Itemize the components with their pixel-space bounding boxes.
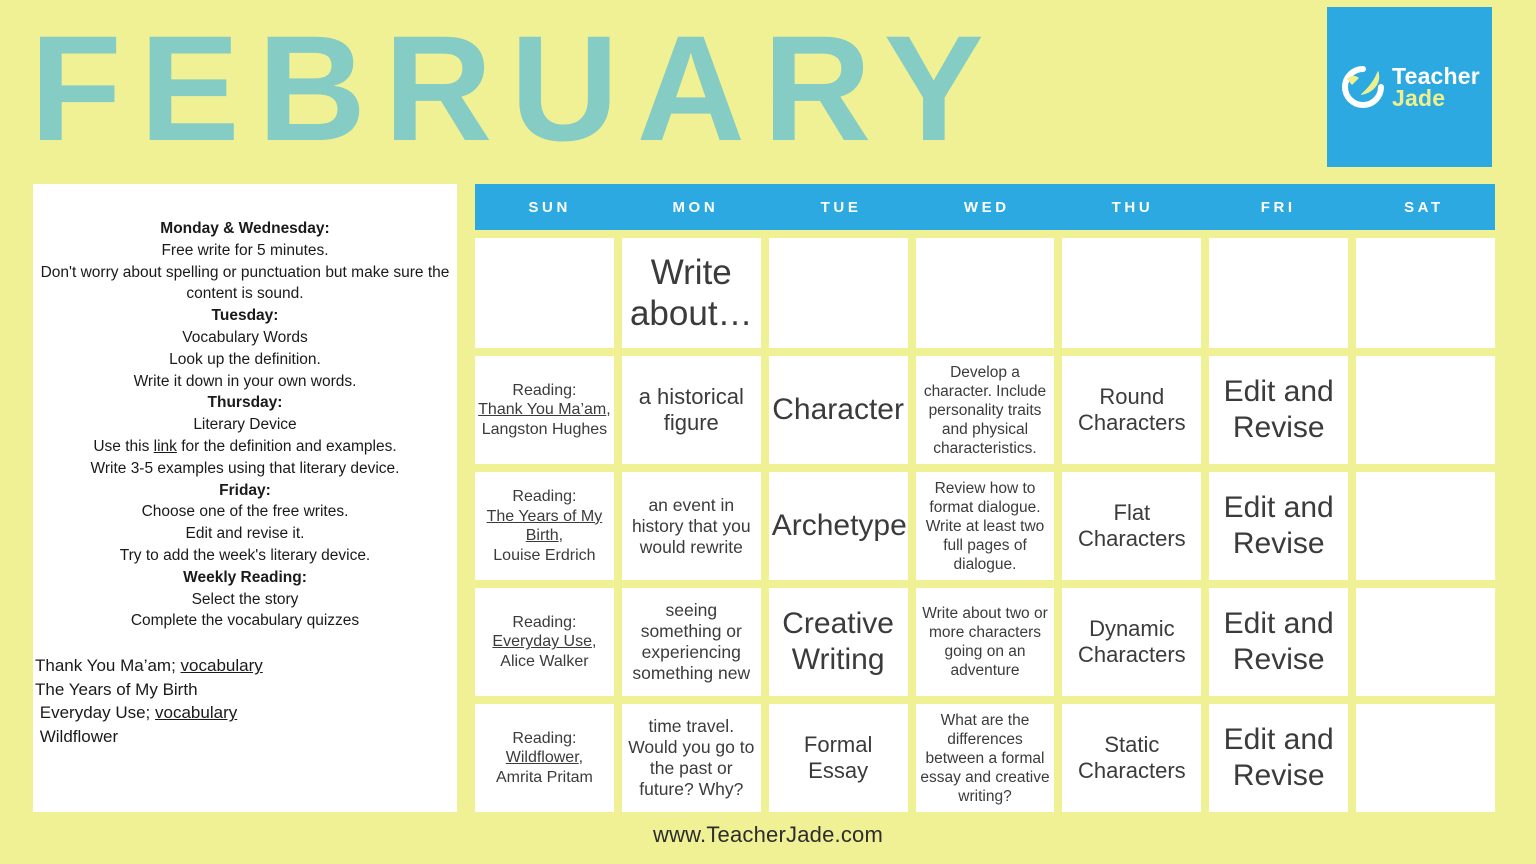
- reading-title-link[interactable]: Thank You Ma’am: [478, 401, 606, 418]
- footer-url[interactable]: www.TeacherJade.com: [0, 822, 1536, 848]
- calendar-cell[interactable]: What are the differences between a forma…: [916, 704, 1055, 812]
- day-header-tue: TUE: [766, 184, 912, 230]
- cell-text: Flat Characters: [1065, 500, 1198, 552]
- reading-label: Reading:: [512, 382, 576, 399]
- quill-circle-icon: [1339, 63, 1387, 111]
- cell-text: Reading: The Years of My Birth, Louise E…: [478, 487, 611, 565]
- reading-title-link[interactable]: The Years of My Birth: [487, 508, 603, 545]
- day-header-sun: SUN: [475, 184, 621, 230]
- calendar-header-row: SUN MON TUE WED THU FRI SAT: [475, 184, 1495, 230]
- calendar-cell[interactable]: Dynamic Characters: [1062, 588, 1201, 696]
- reading-title: The Years of My Birth: [35, 680, 198, 699]
- calendar-cell[interactable]: seeing something or experiencing somethi…: [622, 588, 761, 696]
- calendar-cell[interactable]: [475, 238, 614, 348]
- day-header-fri: FRI: [1204, 184, 1350, 230]
- calendar-cell[interactable]: Creative Writing: [769, 588, 908, 696]
- day-header-sat: SAT: [1349, 184, 1495, 230]
- cell-text: What are the differences between a forma…: [919, 711, 1052, 806]
- calendar-cell[interactable]: Edit and Revise: [1209, 588, 1348, 696]
- instructions-panel: Monday & Wednesday: Free write for 5 min…: [33, 184, 457, 812]
- reading-label: Reading:: [512, 614, 576, 631]
- instructions-line: Write 3-5 examples using that literary d…: [35, 458, 455, 480]
- vocabulary-link[interactable]: vocabulary: [181, 656, 263, 675]
- cell-text: Write about two or more characters going…: [919, 604, 1052, 680]
- instructions-line: Don't worry about spelling or punctuatio…: [35, 262, 455, 306]
- reading-author: Louise Erdrich: [493, 547, 595, 564]
- calendar-cell[interactable]: Review how to format dialogue. Write at …: [916, 472, 1055, 580]
- cell-text: Archetypes: [772, 508, 905, 544]
- instructions-heading-weekly-reading: Weekly Reading:: [183, 569, 307, 586]
- calendar-cell[interactable]: [1356, 356, 1495, 464]
- reading-author: Langston Hughes: [482, 421, 607, 438]
- calendar-cell[interactable]: an event in history that you would rewri…: [622, 472, 761, 580]
- list-item: Wildflower: [35, 725, 457, 749]
- instructions-line: Vocabulary Words: [35, 327, 455, 349]
- instructions-line: Write it down in your own words.: [35, 371, 455, 393]
- cell-text: Character: [772, 392, 905, 428]
- logo-text-jade: Jade: [1392, 87, 1480, 109]
- reading-title: Thank You Ma’am;: [35, 656, 176, 675]
- cell-text: Edit and Revise: [1212, 374, 1345, 446]
- calendar-grid: Write about… Reading: Thank You Ma’am, L…: [475, 238, 1495, 812]
- instructions-line: Literary Device: [35, 414, 455, 436]
- calendar-cell[interactable]: Write about two or more characters going…: [916, 588, 1055, 696]
- instructions-line: Edit and revise it.: [35, 523, 455, 545]
- instructions-line: Look up the definition.: [35, 349, 455, 371]
- reading-title: Wildflower: [40, 727, 118, 746]
- list-item: Thank You Ma’am; vocabulary: [35, 654, 457, 678]
- instructions-heading-friday: Friday:: [219, 482, 271, 499]
- cell-text: Edit and Revise: [1212, 606, 1345, 678]
- cell-text: Reading: Everyday Use, Alice Walker: [478, 613, 611, 672]
- calendar-cell[interactable]: [769, 238, 908, 348]
- calendar-cell[interactable]: Character: [769, 356, 908, 464]
- instructions-line: Choose one of the free writes.: [35, 501, 455, 523]
- page-title: FEBRUARY: [30, 8, 1002, 168]
- calendar-cell[interactable]: Formal Essay: [769, 704, 908, 812]
- cell-text: Static Characters: [1065, 732, 1198, 784]
- calendar-cell[interactable]: [1356, 704, 1495, 812]
- cell-text: a historical figure: [625, 384, 758, 436]
- calendar-cell[interactable]: Edit and Revise: [1209, 472, 1348, 580]
- instructions-line: Complete the vocabulary quizzes: [35, 610, 455, 632]
- calendar-cell[interactable]: [1062, 238, 1201, 348]
- calendar-cell[interactable]: Reading: The Years of My Birth, Louise E…: [475, 472, 614, 580]
- calendar-cell[interactable]: [1209, 238, 1348, 348]
- list-item: Everyday Use; vocabulary: [35, 701, 457, 725]
- instructions-line-with-link: Use this link for the definition and exa…: [35, 436, 455, 458]
- day-header-wed: WED: [912, 184, 1058, 230]
- instructions-heading-thursday: Thursday:: [208, 394, 283, 411]
- calendar-cell[interactable]: Write about…: [622, 238, 761, 348]
- instructions-line: Free write for 5 minutes.: [35, 240, 455, 262]
- calendar-cell[interactable]: time travel. Would you go to the past or…: [622, 704, 761, 812]
- instructions-heading-tuesday: Tuesday:: [212, 307, 279, 324]
- cell-text: Reading: Thank You Ma’am, Langston Hughe…: [478, 381, 611, 440]
- calendar-cell[interactable]: Develop a character. Include personality…: [916, 356, 1055, 464]
- cell-text: Edit and Revise: [1212, 722, 1345, 794]
- reading-label: Reading:: [512, 488, 576, 505]
- calendar-cell[interactable]: Archetypes: [769, 472, 908, 580]
- calendar-cell[interactable]: Reading: Everyday Use, Alice Walker: [475, 588, 614, 696]
- calendar-cell[interactable]: Edit and Revise: [1209, 704, 1348, 812]
- day-header-mon: MON: [621, 184, 767, 230]
- literary-device-link[interactable]: link: [154, 438, 177, 455]
- calendar-cell[interactable]: Edit and Revise: [1209, 356, 1348, 464]
- calendar-cell[interactable]: [916, 238, 1055, 348]
- calendar-cell[interactable]: [1356, 472, 1495, 580]
- reading-label: Reading:: [512, 730, 576, 747]
- list-item: The Years of My Birth: [35, 678, 457, 702]
- calendar-cell[interactable]: Round Characters: [1062, 356, 1201, 464]
- calendar-cell[interactable]: Reading: Thank You Ma’am, Langston Hughe…: [475, 356, 614, 464]
- instructions-heading-mon-wed: Monday & Wednesday:: [160, 220, 329, 237]
- reading-title-link[interactable]: Wildflower: [506, 749, 579, 766]
- reading-list: Thank You Ma’am; vocabulary The Years of…: [33, 654, 457, 748]
- cell-text: time travel. Would you go to the past or…: [625, 716, 758, 800]
- calendar-cell[interactable]: Reading: Wildflower, Amrita Pritam: [475, 704, 614, 812]
- calendar-cell[interactable]: a historical figure: [622, 356, 761, 464]
- logo-text-teacher: Teacher: [1392, 65, 1480, 87]
- reading-author: Amrita Pritam: [496, 769, 593, 786]
- cell-text: Write about…: [625, 252, 758, 334]
- reading-author: Alice Walker: [500, 653, 588, 670]
- calendar: SUN MON TUE WED THU FRI SAT Write about……: [475, 184, 1495, 812]
- vocabulary-link[interactable]: vocabulary: [155, 703, 237, 722]
- reading-title: Everyday Use;: [40, 703, 151, 722]
- cell-text: Formal Essay: [772, 732, 905, 784]
- brand-logo: Teacher Jade: [1327, 7, 1492, 167]
- calendar-cell[interactable]: Flat Characters: [1062, 472, 1201, 580]
- cell-text: Reading: Wildflower, Amrita Pritam: [478, 729, 611, 788]
- day-header-thu: THU: [1058, 184, 1204, 230]
- cell-text: Review how to format dialogue. Write at …: [919, 479, 1052, 574]
- calendar-cell[interactable]: [1356, 588, 1495, 696]
- calendar-cell[interactable]: [1356, 238, 1495, 348]
- cell-text: Develop a character. Include personality…: [919, 363, 1052, 458]
- reading-title-link[interactable]: Everyday Use: [492, 633, 592, 650]
- cell-text: Round Characters: [1065, 384, 1198, 436]
- instructions-line: Select the story: [35, 589, 455, 611]
- cell-text: Creative Writing: [772, 606, 905, 678]
- cell-text: an event in history that you would rewri…: [625, 495, 758, 558]
- cell-text: seeing something or experiencing somethi…: [625, 600, 758, 684]
- calendar-cell[interactable]: Static Characters: [1062, 704, 1201, 812]
- weekly-instructions: Monday & Wednesday: Free write for 5 min…: [33, 218, 457, 632]
- cell-text: Edit and Revise: [1212, 490, 1345, 562]
- cell-text: Dynamic Characters: [1065, 616, 1198, 668]
- instructions-line: Try to add the week's literary device.: [35, 545, 455, 567]
